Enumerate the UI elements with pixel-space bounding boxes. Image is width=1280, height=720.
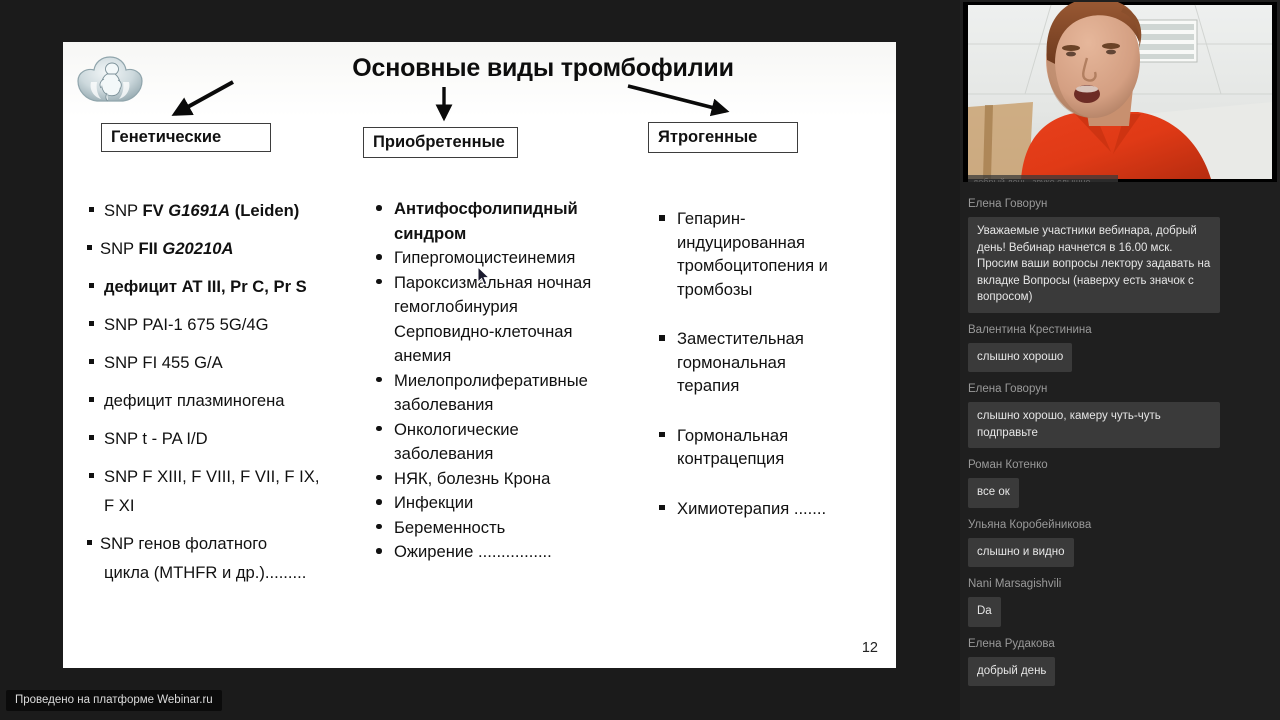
list-item: Серповидно-клеточная	[371, 320, 641, 344]
right-sidebar: добрый день, звуко слышно Елена ГоворунУ…	[960, 0, 1280, 720]
list-item: SNP FII G20210A	[85, 238, 375, 259]
chat-message-author: Елена Говорун	[968, 381, 1272, 397]
slide-page-number: 12	[862, 640, 878, 656]
chat-message-author: Роман Котенко	[968, 457, 1272, 473]
category-box-acquired[interactable]: Приобретенные	[363, 127, 518, 158]
square-bullet-icon	[659, 215, 665, 221]
round-bullet-icon	[376, 377, 382, 383]
list-item: SNP FI 455 G/A	[85, 352, 375, 373]
video-overlay-caption: добрый день, звуко слышно	[968, 175, 1118, 182]
list-item-label: Инфекции	[394, 493, 473, 512]
list-item-label: SNP t - PA I/D	[104, 429, 208, 448]
list-item-label: Серповидно-клеточная	[394, 322, 572, 341]
list-item: SNP PAI-1 675 5G/4G	[85, 314, 375, 335]
list-item-label: Гепарин-индуцированнаятромбоцитопения ит…	[677, 209, 828, 299]
chat-message-author: Валентина Крестинина	[968, 322, 1272, 338]
chat-message[interactable]: Елена Говорунслышно хорошо, камеру чуть-…	[960, 381, 1280, 448]
list-item-label: Миелопролиферативные	[394, 371, 588, 390]
square-bullet-icon	[87, 540, 92, 545]
presentation-stage[interactable]: Основные виды тромбофилии Генетические	[0, 0, 960, 720]
list-item: Гипергомоцистеинемия	[371, 246, 641, 270]
round-bullet-icon	[376, 548, 382, 554]
list-item: дефицит AT III, Pr C, Pr S	[85, 276, 375, 297]
list-item-label: Гормональнаяконтрацепция	[677, 426, 788, 469]
list-item-label: гемоглобинурия	[394, 297, 518, 316]
square-bullet-icon	[89, 435, 94, 440]
list-item-label: SNP F XIII, F VIII, F VII, F IX,	[104, 467, 319, 486]
list-item-label: заболевания	[394, 395, 493, 414]
category-box-iatrogenic[interactable]: Ятрогенные	[648, 122, 798, 153]
chat-message-bubble: Уважаемые участники вебинара, добрый ден…	[968, 217, 1220, 313]
chat-message[interactable]: Nani MarsagishviliDa	[960, 576, 1280, 627]
list-item: заболевания	[371, 393, 641, 417]
round-bullet-icon	[376, 524, 382, 530]
fetus-in-cloud-logo-icon	[71, 54, 149, 106]
chat-message-author: Nani Marsagishvili	[968, 576, 1272, 592]
chat-message-author: Ульяна Коробейникова	[968, 517, 1272, 533]
presenter-video[interactable]: добрый день, звуко слышно	[963, 2, 1277, 182]
list-item: анемия	[371, 344, 641, 368]
list-item-label: SNP генов фолатного	[100, 534, 267, 553]
list-item-label: Ожирение ................	[394, 542, 552, 561]
chat-message-bubble: слышно и видно	[968, 538, 1074, 568]
column-genetic-list: SNP FV G1691A (Leiden)SNP FII G20210Aдеф…	[85, 200, 375, 600]
round-bullet-icon	[376, 254, 382, 260]
list-item-label: SNP FV G1691A (Leiden)	[104, 201, 299, 220]
webinar-player-window: Основные виды тромбофилии Генетические	[0, 0, 1280, 720]
list-item: цикла (MTHFR и др.).........	[85, 562, 375, 583]
chat-message-bubble: добрый день	[968, 657, 1055, 687]
round-bullet-icon	[376, 475, 382, 481]
chat-message[interactable]: Ульяна Коробейниковаслышно и видно	[960, 517, 1280, 568]
square-bullet-icon	[659, 335, 665, 341]
list-item: SNP генов фолатного	[85, 533, 375, 554]
square-bullet-icon	[659, 432, 665, 438]
list-item: SNP FV G1691A (Leiden)	[85, 200, 375, 221]
page-title: Основные виды тромбофилии	[243, 54, 843, 83]
square-bullet-icon	[87, 245, 92, 250]
list-item: гемоглобинурия	[371, 295, 641, 319]
list-item-label: Онкологические	[394, 420, 519, 439]
list-item: заболевания	[371, 442, 641, 466]
list-item-label: Гипергомоцистеинемия	[394, 248, 575, 267]
list-item: Инфекции	[371, 491, 641, 515]
category-label: Приобретенные	[373, 133, 505, 152]
list-item: Беременность	[371, 516, 641, 540]
list-item: Ожирение ................	[371, 540, 641, 564]
platform-watermark: Проведено на платформе Webinar.ru	[6, 690, 222, 711]
list-item-label: F XI	[104, 496, 134, 515]
list-item-label: SNP FII G20210A	[100, 239, 233, 258]
list-item-label: SNP PAI-1 675 5G/4G	[104, 315, 269, 334]
chat-message[interactable]: Елена ГоворунУважаемые участники вебинар…	[960, 196, 1280, 313]
category-box-genetic[interactable]: Генетические	[101, 123, 271, 152]
category-label: Генетические	[111, 128, 221, 147]
list-item-label: Заместительнаягормональнаятерапия	[677, 329, 804, 395]
slide-canvas[interactable]: Основные виды тромбофилии Генетические	[63, 42, 896, 668]
square-bullet-icon	[89, 359, 94, 364]
list-item-label: заболевания	[394, 444, 493, 463]
chat-panel[interactable]: Елена ГоворунУважаемые участники вебинар…	[960, 196, 1280, 720]
chat-message-author: Елена Говорун	[968, 196, 1272, 212]
list-item: Химиотерапия .......	[655, 497, 885, 521]
list-item: Онкологические	[371, 418, 641, 442]
square-bullet-icon	[659, 505, 665, 511]
list-item-label: НЯК, болезнь Крона	[394, 469, 550, 488]
square-bullet-icon	[89, 321, 94, 326]
round-bullet-icon	[376, 279, 382, 285]
list-item-label: Беременность	[394, 518, 505, 537]
list-item: синдром	[371, 222, 641, 246]
chat-message[interactable]: Роман Котенковсе ок	[960, 457, 1280, 508]
round-bullet-icon	[376, 499, 382, 505]
chat-message-bubble: слышно хорошо, камеру чуть-чуть подправь…	[968, 402, 1220, 448]
list-item: Гепарин-индуцированнаятромбоцитопения ит…	[655, 207, 885, 301]
list-item-label: синдром	[394, 224, 466, 243]
round-bullet-icon	[376, 205, 382, 211]
square-bullet-icon	[89, 283, 94, 288]
square-bullet-icon	[89, 397, 94, 402]
chat-message-author: Елена Рудакова	[968, 636, 1272, 652]
list-item: Заместительнаягормональнаятерапия	[655, 327, 885, 398]
round-bullet-icon	[376, 426, 382, 432]
list-item-label: цикла (MTHFR и др.).........	[104, 563, 306, 582]
list-item: Гормональнаяконтрацепция	[655, 424, 885, 471]
list-item: SNP t - PA I/D	[85, 428, 375, 449]
list-item-label: Антифосфолипидный	[394, 199, 578, 218]
list-item-label: дефицит плазминогена	[104, 391, 285, 410]
list-item-label: SNP FI 455 G/A	[104, 353, 223, 372]
chat-message[interactable]: Валентина Крестининаслышно хорошо	[960, 322, 1280, 373]
square-bullet-icon	[89, 473, 94, 478]
chat-message[interactable]: Елена Рудаковадобрый день	[960, 636, 1280, 687]
list-item: Антифосфолипидный	[371, 197, 641, 221]
list-item-label: дефицит AT III, Pr C, Pr S	[104, 277, 307, 296]
square-bullet-icon	[89, 207, 94, 212]
list-item-label: анемия	[394, 346, 451, 365]
list-item: дефицит плазминогена	[85, 390, 375, 411]
list-item: НЯК, болезнь Крона	[371, 467, 641, 491]
chat-message-bubble: Da	[968, 597, 1001, 627]
list-item: SNP F XIII, F VIII, F VII, F IX,	[85, 466, 375, 487]
chat-message-bubble: все ок	[968, 478, 1019, 508]
list-item-label: Химиотерапия .......	[677, 499, 826, 518]
column-iatrogenic-list: Гепарин-индуцированнаятромбоцитопения ит…	[655, 207, 885, 546]
list-item: Пароксизмальная ночная	[371, 271, 641, 295]
category-label: Ятрогенные	[658, 128, 757, 147]
list-item: F XI	[85, 495, 375, 516]
list-item-label: Пароксизмальная ночная	[394, 273, 591, 292]
column-acquired-list: АнтифосфолипидныйсиндромГипергомоцистеин…	[371, 197, 641, 565]
chat-message-bubble: слышно хорошо	[968, 343, 1072, 373]
list-item: Миелопролиферативные	[371, 369, 641, 393]
